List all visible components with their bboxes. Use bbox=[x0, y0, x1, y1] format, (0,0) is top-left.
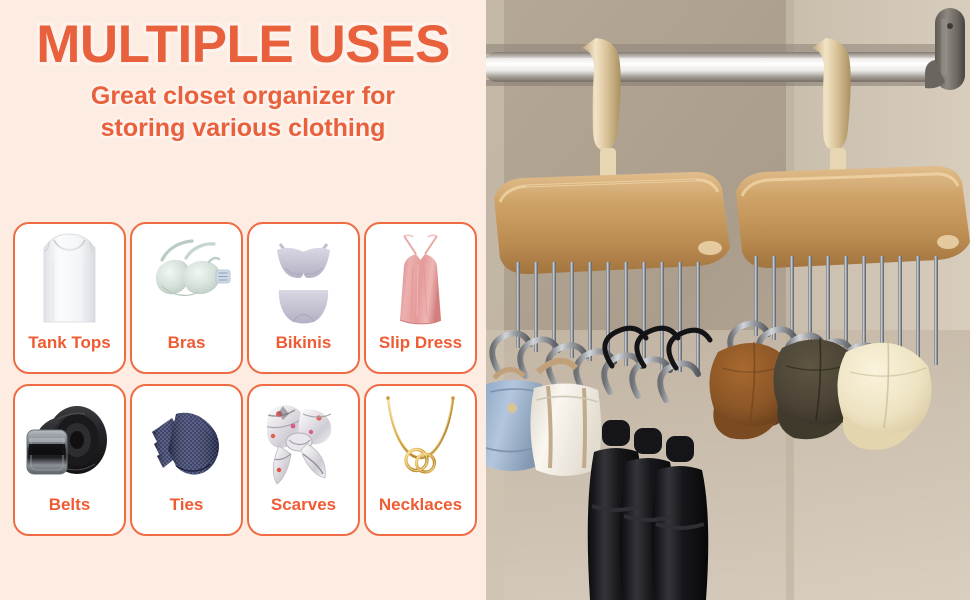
subtitle-line-1: Great closet organizer for bbox=[0, 81, 486, 113]
use-card-label: Necklaces bbox=[379, 496, 462, 513]
left-content-panel: MULTIPLE USES Great closet organizer for… bbox=[0, 0, 486, 600]
use-card-bras: Bras bbox=[130, 222, 243, 374]
use-card-tank-tops: Tank Tops bbox=[13, 222, 126, 374]
product-photo bbox=[486, 0, 970, 600]
use-card-label: Belts bbox=[49, 496, 91, 513]
use-card-belts: Belts bbox=[13, 384, 126, 536]
use-case-grid: Tank Tops bbox=[13, 222, 477, 536]
use-card-label: Scarves bbox=[271, 496, 336, 513]
headline-block: MULTIPLE USES Great closet organizer for… bbox=[0, 18, 486, 144]
use-card-label: Tank Tops bbox=[28, 334, 111, 351]
use-card-label: Bikinis bbox=[276, 334, 332, 351]
bra-icon bbox=[132, 226, 241, 332]
belt-icon bbox=[15, 388, 124, 494]
page-title: MULTIPLE USES bbox=[0, 18, 486, 71]
scarf-icon bbox=[249, 388, 358, 494]
use-card-necklaces: Necklaces bbox=[364, 384, 477, 536]
use-card-scarves: Scarves bbox=[247, 384, 360, 536]
use-card-bikinis: Bikinis bbox=[247, 222, 360, 374]
bikini-icon bbox=[249, 226, 358, 332]
tank-top-icon bbox=[15, 226, 124, 332]
use-card-ties: Ties bbox=[130, 384, 243, 536]
use-card-label: Bras bbox=[168, 334, 206, 351]
necklace-icon bbox=[366, 388, 475, 494]
slip-dress-icon bbox=[366, 226, 475, 332]
page-subtitle: Great closet organizer for storing vario… bbox=[0, 81, 486, 144]
subtitle-line-2: storing various clothing bbox=[0, 113, 486, 145]
infographic-page: MULTIPLE USES Great closet organizer for… bbox=[0, 0, 970, 600]
use-card-label: Slip Dress bbox=[379, 334, 462, 351]
use-card-slip-dress: Slip Dress bbox=[364, 222, 477, 374]
use-card-label: Ties bbox=[170, 496, 204, 513]
closet-rod bbox=[486, 44, 958, 86]
tie-icon bbox=[132, 388, 241, 494]
